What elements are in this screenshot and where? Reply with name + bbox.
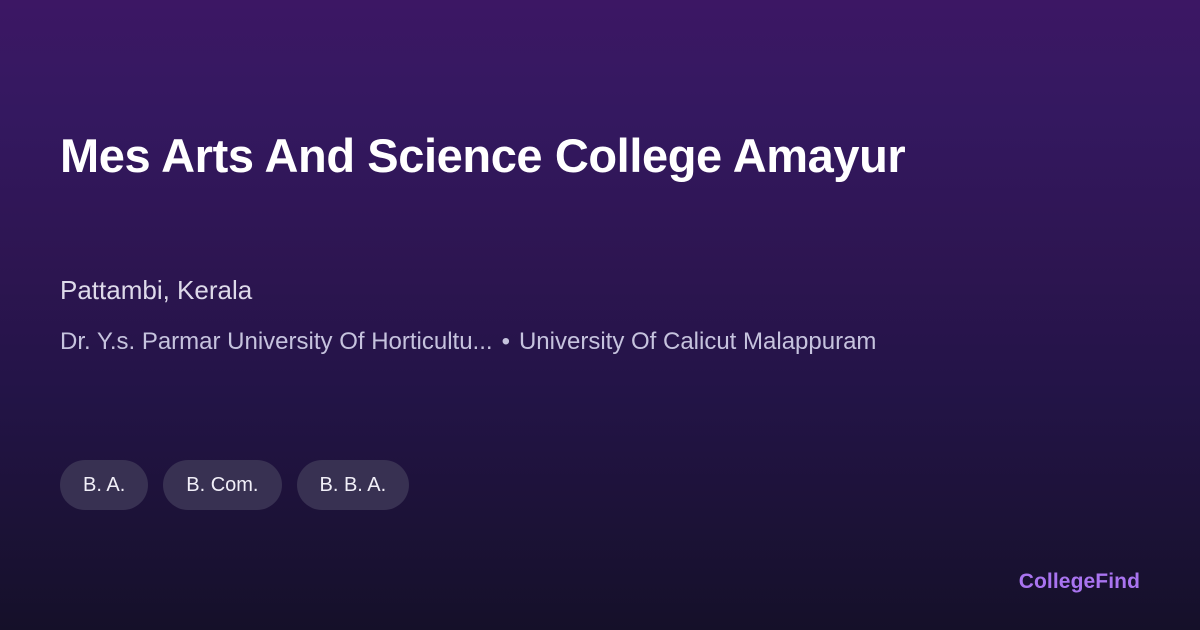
college-location: Pattambi, Kerala (60, 274, 252, 307)
degree-pill[interactable]: B. A. (60, 460, 148, 510)
page-title: Mes Arts And Science College Amayur (60, 130, 905, 183)
college-og-card: Mes Arts And Science College Amayur Patt… (0, 0, 1200, 630)
card-content: Mes Arts And Science College Amayur Patt… (60, 0, 1140, 630)
degree-pill[interactable]: B. B. A. (297, 460, 410, 510)
brand-logo: CollegeFind (1019, 570, 1140, 594)
bullet-separator-icon: • (493, 327, 519, 357)
affiliation-list: Dr. Y.s. Parmar University Of Horticultu… (60, 327, 876, 357)
affiliation-secondary: University Of Calicut Malappuram (519, 327, 876, 357)
affiliation-primary: Dr. Y.s. Parmar University Of Horticultu… (60, 327, 493, 357)
degree-pill-list: B. A. B. Com. B. B. A. (60, 460, 409, 510)
degree-pill[interactable]: B. Com. (163, 460, 281, 510)
